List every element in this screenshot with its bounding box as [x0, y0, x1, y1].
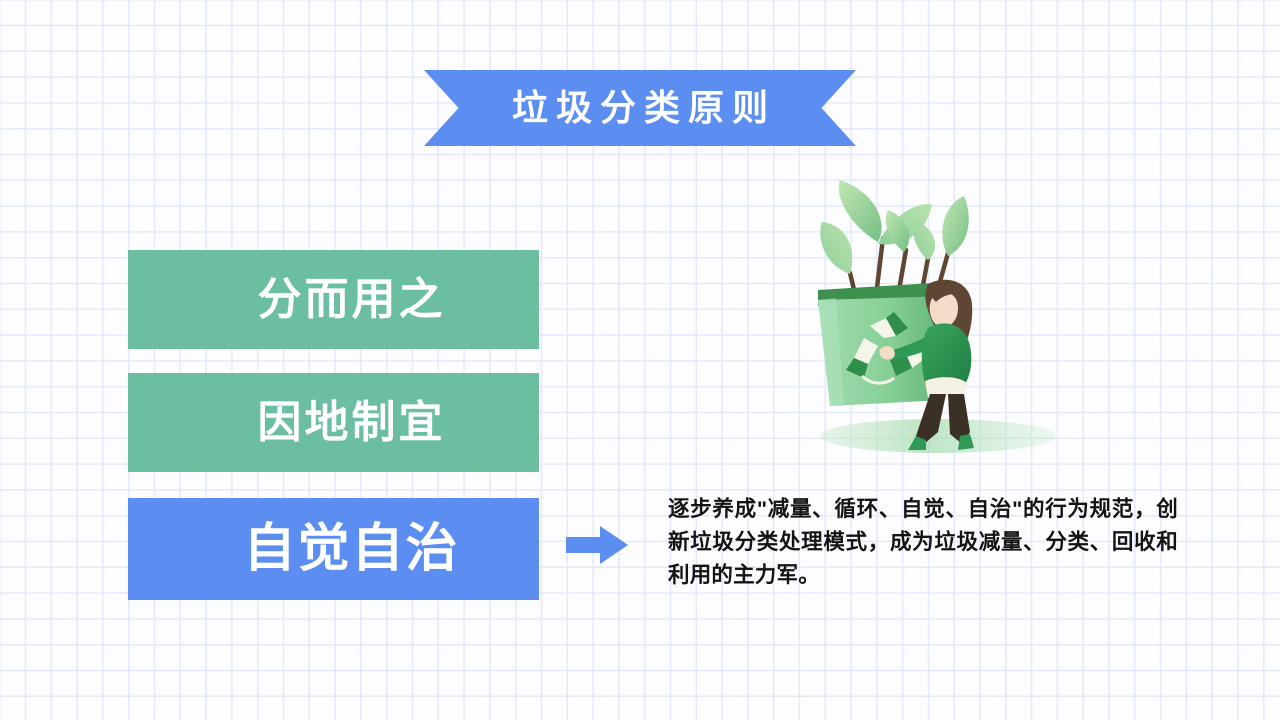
title-banner: 垃圾分类原则: [424, 70, 856, 146]
principle-label: 自觉自治: [207, 523, 459, 575]
principle-box-yin-di-zhi-yi[interactable]: 因地制宜: [128, 373, 539, 472]
slide-canvas: 垃圾分类原则 分而用之 因地制宜 自觉自治 逐步养成"减量、循环、自觉、自治"的…: [0, 0, 1280, 720]
description-text: 逐步养成"减量、循环、自觉、自治"的行为规范，创新垃圾分类处理模式，成为垃圾减量…: [668, 493, 1178, 592]
principle-box-fen-er-yong-zhi[interactable]: 分而用之: [128, 250, 539, 349]
principle-label: 因地制宜: [222, 401, 446, 445]
principle-box-zi-jue-zi-zhi[interactable]: 自觉自治: [128, 498, 539, 600]
page-title: 垃圾分类原则: [504, 90, 776, 126]
arrow-right-icon: [566, 526, 628, 564]
recycling-bin-with-plants-and-woman-illustration: [778, 178, 1068, 470]
principle-label: 分而用之: [222, 278, 446, 322]
